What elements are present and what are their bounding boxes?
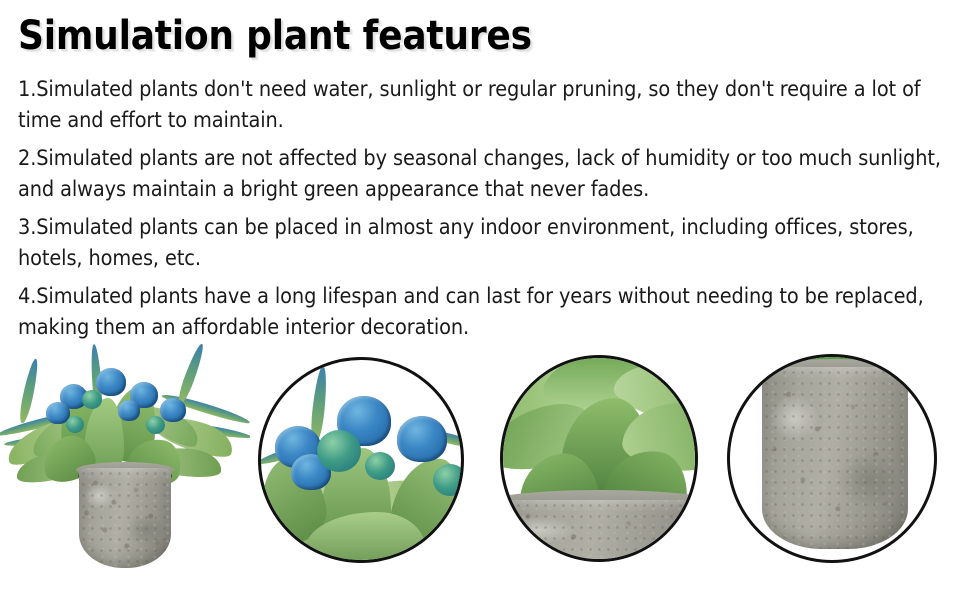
product-image-gallery: [0, 340, 970, 600]
page-title: Simulation plant features: [18, 16, 532, 56]
feature-item-4: 4.Simulated plants have a long lifespan …: [18, 281, 943, 343]
detail-stone-pot: [727, 354, 937, 563]
feature-item-3: 3.Simulated plants can be placed in almo…: [18, 212, 943, 274]
hero-scene: [0, 340, 250, 598]
product-feature-banner: Simulation plant features 1.Simulated pl…: [0, 0, 970, 600]
feature-item-2: 2.Simulated plants are not affected by s…: [18, 143, 943, 205]
detail-pot-rim-foliage: [500, 355, 698, 562]
hero-product-photo: [0, 340, 250, 598]
feature-list: 1.Simulated plants don't need water, sun…: [18, 74, 943, 350]
detail-blue-flowers-image: [261, 360, 461, 560]
detail-blue-flowers: [258, 357, 464, 563]
detail-pot-rim-foliage-image: [503, 358, 695, 559]
feature-item-1: 1.Simulated plants don't need water, sun…: [18, 74, 943, 136]
detail-stone-pot-image: [730, 357, 934, 560]
